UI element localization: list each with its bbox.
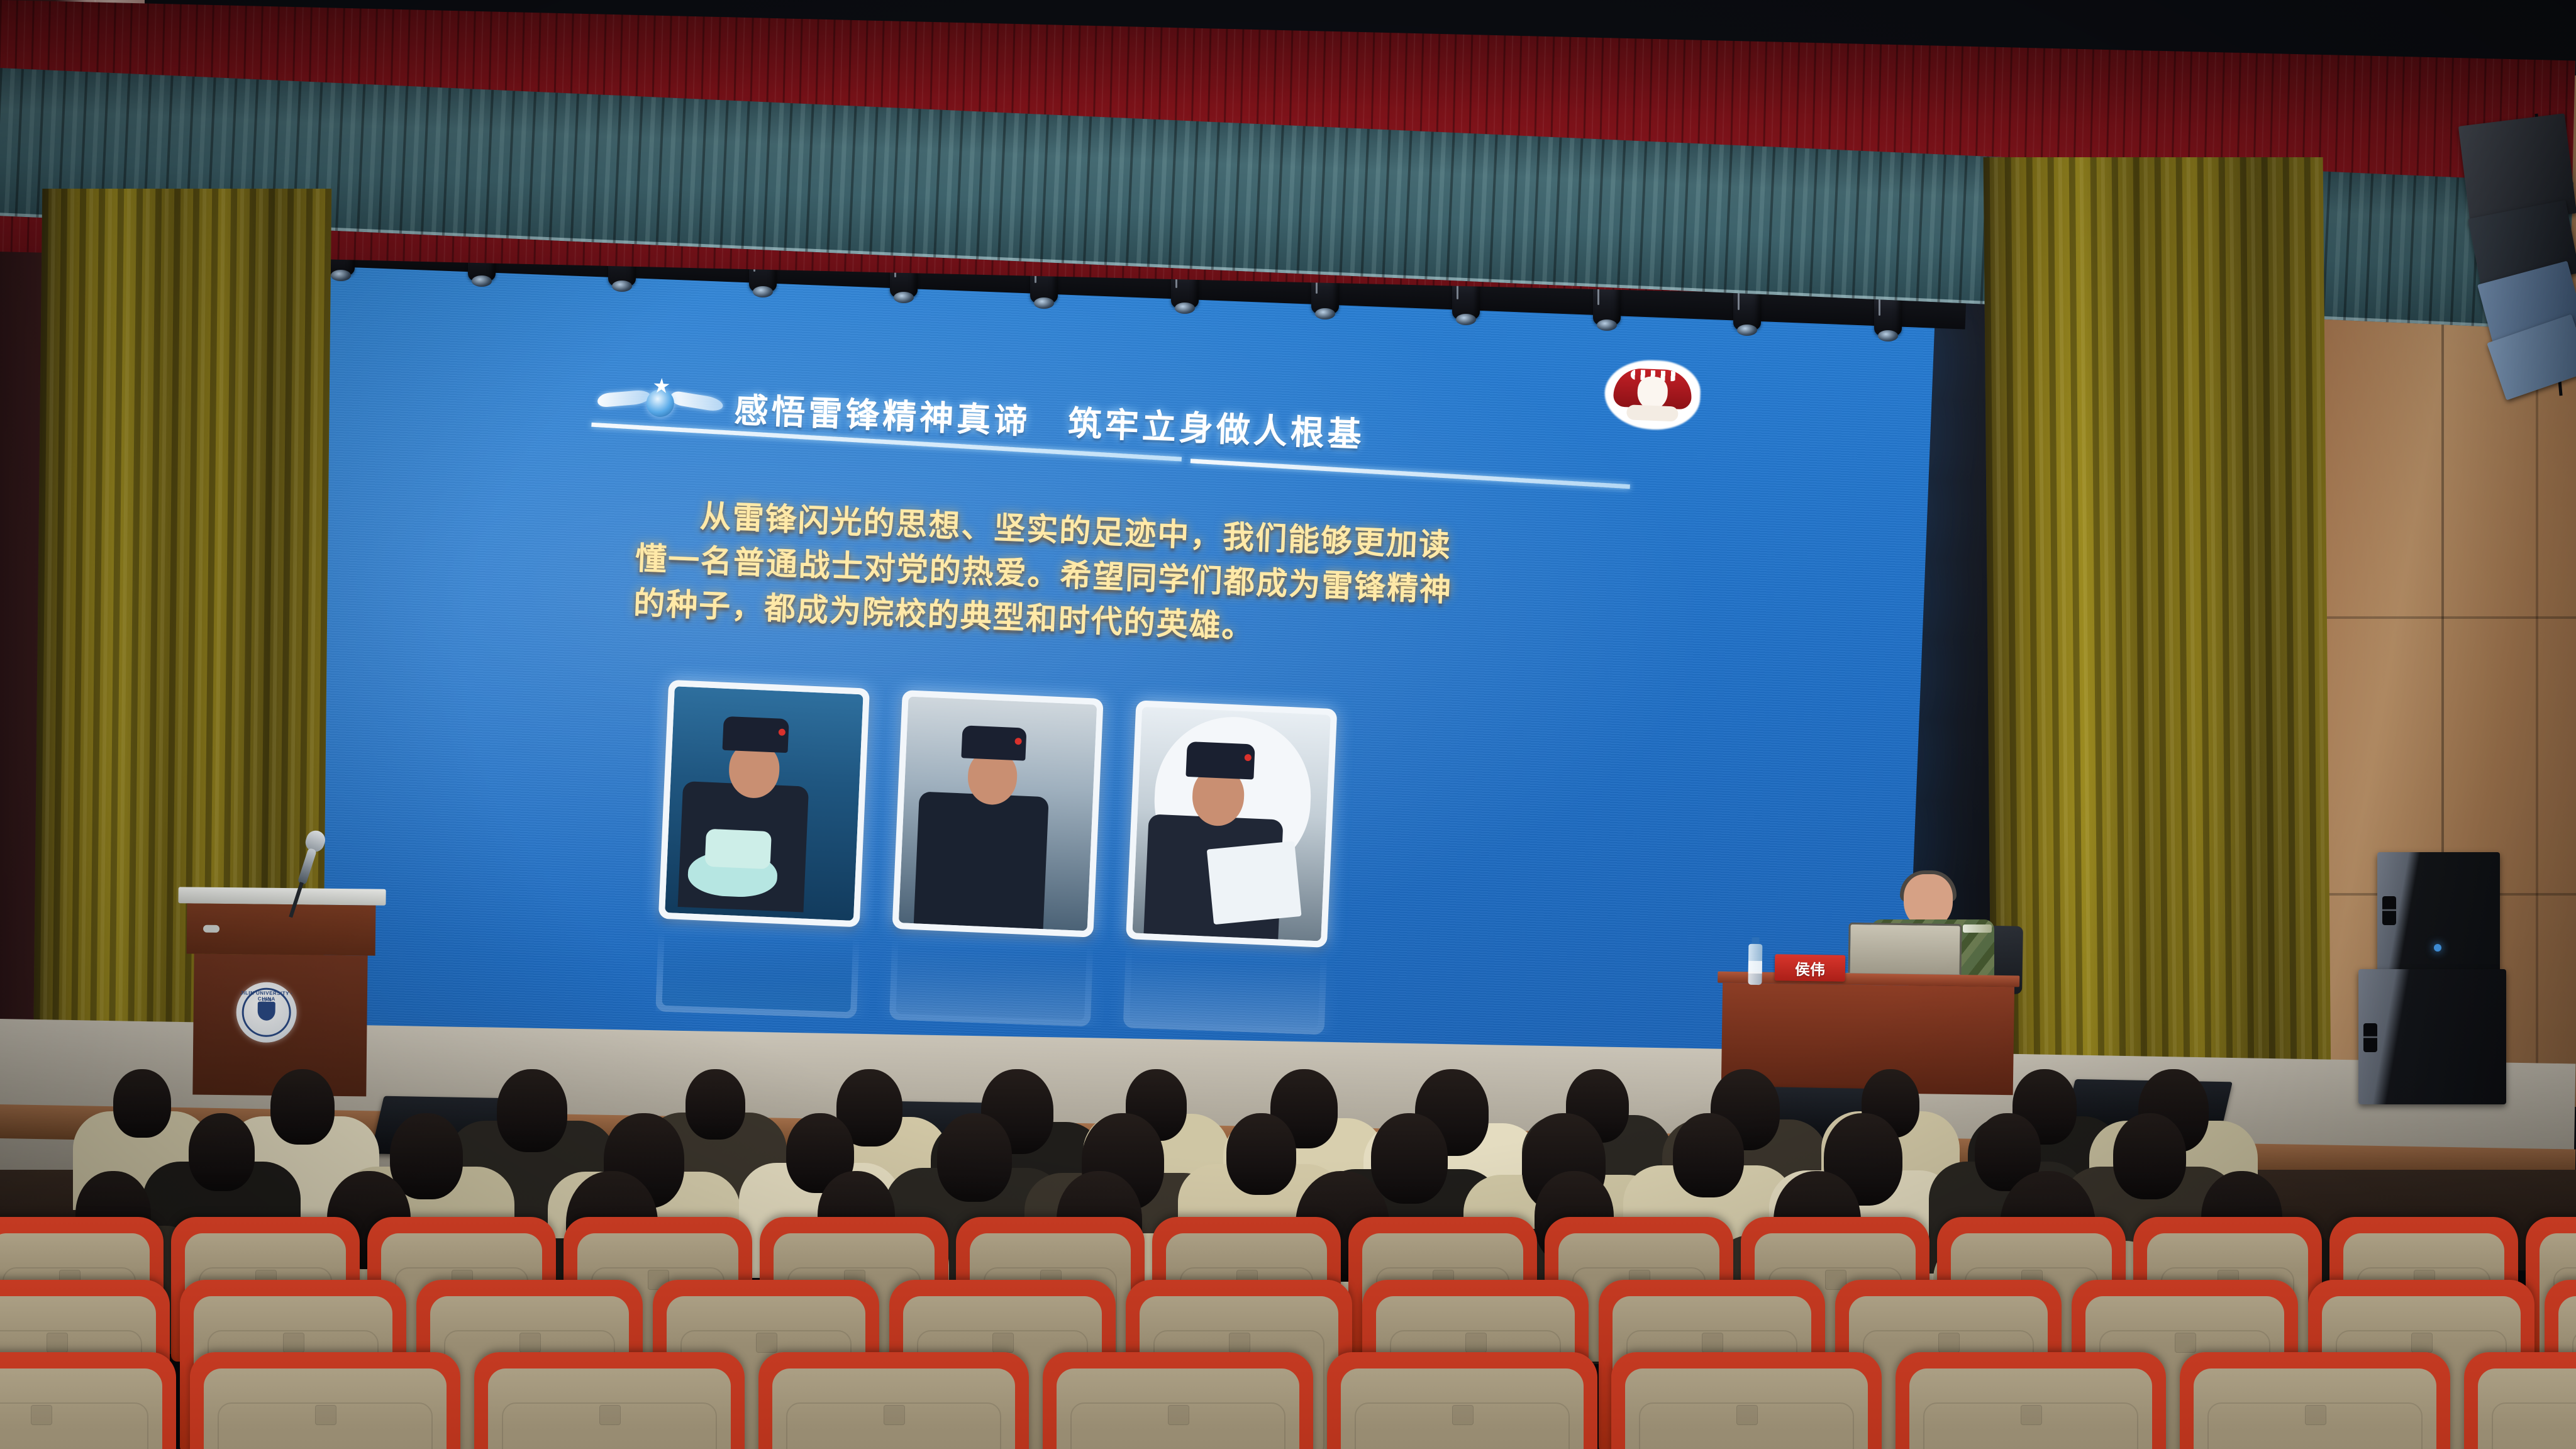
valance-pleat-highlight <box>517 91 528 239</box>
seat-cushion <box>1341 1368 1584 1449</box>
seat-number-plate <box>315 1405 336 1425</box>
valance-pleat-highlight <box>346 84 357 231</box>
valance-pleat <box>997 113 1006 260</box>
valance-pleat-highlight <box>1969 156 1980 304</box>
valance-pleat <box>1296 126 1305 274</box>
lei-feng-photo-smiling <box>892 690 1103 938</box>
valance-pleat-highlight <box>858 106 869 254</box>
valance-pleat-highlight <box>1158 119 1169 267</box>
valance-pleat-highlight <box>1222 123 1233 270</box>
valance-pleat-highlight <box>1072 116 1083 264</box>
seat-number-plate <box>31 1405 52 1425</box>
water-bottle[interactable] <box>1746 937 1763 985</box>
valance-pleat-highlight <box>923 109 933 257</box>
valance-pleat <box>549 92 558 240</box>
valance-pleat-highlight <box>474 89 485 237</box>
speaker-handle-bottom <box>2363 1023 2377 1052</box>
valance-pleat-highlight <box>1136 119 1147 267</box>
seat-cushion <box>772 1368 1015 1449</box>
audience-member-head <box>686 1069 745 1140</box>
valance-pleat <box>1233 123 1241 271</box>
valance-pleat <box>1681 143 1690 291</box>
valance-pleat-highlight <box>1265 125 1275 272</box>
valance-pleat <box>2386 174 2395 322</box>
audience-seat[interactable] <box>2464 1352 2576 1449</box>
winged-star-emblem-icon <box>596 374 724 428</box>
valance-pleat <box>1147 119 1156 267</box>
stacked-pa-speakers <box>2358 852 2516 1104</box>
audience-member-head <box>189 1113 255 1191</box>
podium-top-surface <box>178 887 386 905</box>
valance-pleat <box>1403 131 1412 279</box>
seat-number-plate <box>1938 1333 1960 1353</box>
valance-pleat-highlight <box>410 86 421 234</box>
photo-reflection-bg <box>1130 928 1321 1028</box>
valance-pleat-highlight <box>1286 126 1297 274</box>
valance-pleat <box>335 83 344 231</box>
valance-pleat-highlight <box>367 84 378 232</box>
speaker-handle-top <box>2382 896 2396 925</box>
valance-pleat <box>1852 151 1861 299</box>
pa-speaker-bottom <box>2358 969 2506 1104</box>
valance-pleat <box>1510 135 1519 283</box>
photo-image <box>1132 707 1330 941</box>
valance-pleat-highlight <box>1692 143 1702 291</box>
seat-number-plate <box>1168 1405 1189 1425</box>
emblem-disc <box>646 389 675 418</box>
valance-pleat <box>656 97 665 245</box>
audience-seat[interactable] <box>1043 1352 1313 1449</box>
valance-pleat-highlight <box>1350 128 1360 276</box>
valance-pleat <box>1446 133 1455 280</box>
valance-pleat <box>1553 137 1562 285</box>
valance-pleat <box>698 99 707 247</box>
slide-header-rule-right <box>1191 458 1630 489</box>
speaker-podium: JILIN UNIVERSITY · CHINA 1946 <box>180 887 382 1096</box>
pa-speaker-top <box>2377 852 2500 972</box>
auditorium-scene: 感悟雷锋精神真谛 筑牢立身做人根基 从雷锋闪光的思想、坚实的足迹中，我们能够更加… <box>0 0 2576 1449</box>
nameplate-text: 侯伟 <box>1795 957 1825 979</box>
valance-pleat <box>421 87 430 235</box>
light-lens <box>472 275 492 287</box>
valance-pleat-highlight <box>1201 121 1211 269</box>
valance-pleat-highlight <box>1756 147 1767 294</box>
valance-pleat-highlight <box>752 102 762 250</box>
valance-pleat-highlight <box>1799 148 1809 296</box>
emblem-wing-left <box>597 389 652 408</box>
slide-header: 感悟雷锋精神真谛 筑牢立身做人根基 <box>596 370 1616 480</box>
seat-number-plate <box>2411 1333 2433 1353</box>
seat-cushion <box>1625 1368 1868 1449</box>
valance-pleat <box>1019 114 1028 262</box>
presider-nameplate: 侯伟 <box>1775 954 1846 982</box>
seat-cushion <box>1909 1368 2152 1449</box>
seat-cushion <box>1057 1368 1299 1449</box>
valance-pleat-highlight <box>581 94 592 242</box>
photo-reflection-image <box>1130 928 1321 1028</box>
valance-pleat-highlight <box>2333 172 2343 320</box>
seat-number-plate <box>2021 1405 2042 1425</box>
valance-pleat <box>1040 114 1049 262</box>
valance-pleat-highlight <box>1478 134 1489 282</box>
seat-number-plate <box>1736 1405 1758 1425</box>
valance-pleat-highlight <box>1243 123 1254 271</box>
valance-pleat <box>635 96 643 244</box>
valance-pleat <box>1702 144 1711 292</box>
valance-pleat-highlight <box>1030 114 1040 262</box>
photo-image <box>665 686 863 921</box>
line-array-speaker-cluster <box>2453 75 2576 377</box>
valance-pleat <box>1895 153 1904 301</box>
valance-pleat-highlight <box>1179 121 1190 269</box>
valance-pleat <box>2365 174 2373 321</box>
photo-paper <box>1207 841 1302 924</box>
valance-pleat <box>784 103 792 251</box>
valance-pleat <box>1788 148 1797 296</box>
valance-pleat-highlight <box>624 96 635 244</box>
seat-number-plate <box>1702 1333 1723 1353</box>
lei-feng-portrait-logo-icon <box>1603 358 1701 431</box>
audience-seat[interactable] <box>1896 1352 2166 1449</box>
valance-pleat-highlight <box>645 97 656 245</box>
valance-pleat <box>677 98 686 246</box>
valance-pleat-highlight <box>1906 153 1916 301</box>
valance-pleat-highlight <box>2354 173 2365 321</box>
seat-cushion <box>2194 1368 2436 1449</box>
valance-pleat <box>2407 175 2416 323</box>
photo-reflection-bg <box>662 911 853 1012</box>
valance-pleat-highlight <box>1628 141 1638 289</box>
light-lens <box>1034 297 1054 309</box>
valance-pleat-highlight <box>1307 126 1318 274</box>
light-lens <box>1878 330 1898 341</box>
photo-reflection-image <box>896 919 1087 1020</box>
valance-pleat-highlight <box>1606 140 1617 287</box>
valance-pleat <box>442 88 451 236</box>
seat-number-plate <box>884 1405 905 1425</box>
valance-pleat-highlight <box>2440 177 2450 325</box>
right-stage-curtain <box>1984 157 2331 1082</box>
podium-upper-body <box>187 903 376 955</box>
seat-number-plate <box>1465 1333 1487 1353</box>
valance-pleat-highlight <box>1820 149 1831 297</box>
valance-pleat <box>805 104 814 252</box>
photo-coat <box>914 791 1049 929</box>
audience-member-head <box>1673 1113 1744 1197</box>
seat-cushion <box>2478 1368 2576 1449</box>
microphone-stand <box>289 882 304 918</box>
valance-pleat <box>464 89 472 236</box>
officer-epaulet-right <box>1963 924 1992 933</box>
valance-pleat <box>1660 142 1668 290</box>
logo-collar <box>1626 404 1679 421</box>
valance-pleat <box>1254 124 1263 272</box>
valance-pleat <box>1745 146 1754 294</box>
valance-pleat <box>2343 172 2352 320</box>
audience-seat[interactable] <box>0 1352 176 1449</box>
seat-number-plate <box>283 1333 304 1353</box>
valance-pleat <box>1126 118 1135 266</box>
audience-seat[interactable] <box>1327 1352 1597 1449</box>
valance-pleat-highlight <box>560 93 570 241</box>
valance-pleat <box>1190 121 1199 269</box>
valance-pleat-highlight <box>773 103 784 250</box>
valance-pleat <box>1339 128 1348 275</box>
led-presentation-screen: 感悟雷锋精神真谛 筑牢立身做人根基 从雷锋闪光的思想、坚实的足迹中，我们能够更加… <box>264 233 1936 1108</box>
audience-seat[interactable] <box>474 1352 745 1449</box>
valance-pleat <box>528 92 536 240</box>
valance-pleat <box>357 84 365 232</box>
valance-pleat <box>1104 118 1113 265</box>
audience-member-head <box>937 1113 1012 1202</box>
valance-pleat-highlight <box>1499 135 1510 283</box>
valance-pleat-highlight <box>1735 145 1745 293</box>
valance-pleat-highlight <box>538 92 549 240</box>
valance-pleat <box>613 96 622 243</box>
valance-pleat-highlight <box>944 110 955 258</box>
lei-feng-photo-portrait <box>1126 700 1337 948</box>
light-lens <box>1597 319 1617 331</box>
jilin-university-seal-icon: JILIN UNIVERSITY · CHINA 1946 <box>236 982 297 1043</box>
seat-number-plate <box>1452 1405 1474 1425</box>
valance-pleat <box>1211 122 1220 270</box>
slide-body-paragraph: 从雷锋闪光的思想、坚实的足迹中，我们能够更加读懂一名普通战士对党的热爱。希望同学… <box>633 499 1453 645</box>
valance-pleat <box>0 68 3 216</box>
valance-pleat <box>1424 131 1433 279</box>
valance-pleat-highlight <box>666 98 677 246</box>
valance-pleat <box>1809 149 1818 297</box>
valance-pleat-highlight <box>1884 152 1895 300</box>
emblem-wing-right <box>670 390 723 413</box>
valance-pleat <box>1083 116 1092 264</box>
valance-pleat <box>762 102 771 250</box>
valance-pleat-highlight <box>496 91 506 238</box>
valance-pleat-highlight <box>1392 130 1403 278</box>
valance-pleat-highlight <box>794 104 805 252</box>
valance-pleat-highlight <box>2375 174 2386 322</box>
audience-seat[interactable] <box>190 1352 460 1449</box>
valance-pleat-highlight <box>1948 155 1958 303</box>
seat-cushion <box>488 1368 731 1449</box>
valance-pleat-highlight <box>2397 175 2407 323</box>
valance-pleat-highlight <box>1008 113 1019 261</box>
valance-pleat-highlight <box>1414 131 1424 279</box>
seat-number-plate <box>599 1405 621 1425</box>
light-lens <box>894 292 914 303</box>
valance-pleat-highlight <box>453 89 464 236</box>
valance-pleat <box>1617 140 1626 288</box>
valance-pleat <box>1916 153 1925 301</box>
valance-pleat-highlight <box>1542 137 1553 285</box>
valance-pleat-highlight <box>687 99 698 247</box>
seat-cushion <box>0 1368 162 1449</box>
valance-pleat <box>1275 125 1284 273</box>
valance-pleat-highlight <box>1670 143 1681 291</box>
valance-pleat-highlight <box>837 106 848 253</box>
valance-pleat <box>1958 155 1967 303</box>
valance-pleat-highlight <box>1115 118 1126 265</box>
seat-number-plate <box>1229 1333 1250 1353</box>
light-lens <box>753 286 773 297</box>
valance-pleat <box>570 94 579 241</box>
valance-pleat-highlight <box>1435 132 1446 280</box>
valance-pleat <box>506 91 515 238</box>
valance-pleat <box>1062 116 1070 264</box>
valance-pleat-highlight <box>1713 145 1724 292</box>
valance-pleat <box>1724 145 1733 293</box>
audience-seat[interactable] <box>1611 1352 1882 1449</box>
seat-number-plate <box>47 1333 68 1353</box>
audience-member-head <box>270 1069 335 1145</box>
valance-pleat <box>1638 141 1647 289</box>
photo-reflection-bg <box>896 919 1087 1020</box>
valance-pleat <box>741 101 750 249</box>
valance-pleat-highlight <box>880 108 891 255</box>
valance-pleat <box>1489 135 1497 282</box>
photo-reflection-image <box>662 911 853 1012</box>
seal-shield-icon <box>258 1002 275 1021</box>
audience-member-head <box>497 1069 567 1152</box>
valance-pleat-highlight <box>1585 139 1596 287</box>
speaker-power-led <box>2434 944 2441 952</box>
valance-pleat-highlight <box>1563 138 1574 286</box>
valance-pleat-highlight <box>431 87 442 235</box>
valance-pleat-highlight <box>965 111 976 259</box>
valance-pleat-highlight <box>1521 136 1531 284</box>
photo-cloth <box>704 829 772 869</box>
slide-photo-row <box>659 680 1529 943</box>
valance-pleat-highlight <box>1863 151 1874 299</box>
valance-pleat-highlight <box>1649 142 1660 289</box>
valance-pleat-highlight <box>1051 115 1062 263</box>
seat-number-plate <box>992 1333 1014 1353</box>
valance-pleat <box>719 100 728 248</box>
audience-seat[interactable] <box>758 1352 1029 1449</box>
valance-pleat <box>869 107 878 255</box>
slide-body-text: 从雷锋闪光的思想、坚实的足迹中，我们能够更加读懂一名普通战士对党的热爱。希望同学… <box>633 492 1474 658</box>
valance-pleat <box>912 109 921 257</box>
photo-cap <box>1185 741 1255 780</box>
valance-pleat-highlight <box>987 112 997 260</box>
valance-pleat-highlight <box>1371 130 1382 277</box>
valance-pleat <box>1169 120 1177 268</box>
valance-pleat <box>891 108 899 256</box>
audience-member-head <box>390 1113 463 1199</box>
valance-pleat-highlight <box>1777 147 1788 295</box>
seat-cushion <box>204 1368 447 1449</box>
audience-member-head <box>1371 1113 1448 1204</box>
valance-pleat <box>1318 127 1326 275</box>
valance-pleat <box>976 112 985 260</box>
light-lens <box>331 270 351 281</box>
valance-pleat <box>848 106 857 254</box>
valance-pleat-highlight <box>1926 154 1937 302</box>
valance-pleat <box>1767 147 1775 295</box>
bottle-label <box>1748 961 1762 974</box>
valance-pleat <box>592 94 601 242</box>
valance-pleat <box>1531 136 1540 284</box>
audience-member-head <box>2113 1113 2186 1199</box>
valance-pleat <box>485 90 494 238</box>
valance-pleat-highlight <box>816 104 826 252</box>
valance-pleat <box>1467 133 1476 281</box>
valance-pleat <box>955 111 963 258</box>
valance-pleat-highlight <box>2418 176 2429 324</box>
seat-number-plate <box>756 1333 777 1353</box>
valance-pleat-highlight <box>1328 128 1339 275</box>
valance-pleat <box>1596 139 1604 287</box>
valance-pleat <box>1831 150 1840 297</box>
valance-pleat-highlight <box>389 86 399 233</box>
valance-pleat-highlight <box>602 95 613 243</box>
valance-pleat-highlight <box>4 69 15 216</box>
valance-pleat <box>1874 152 1882 299</box>
valance-pleat <box>826 105 835 253</box>
valance-pleat <box>1574 138 1583 286</box>
valance-pleat <box>2429 176 2438 324</box>
valance-pleat <box>1937 155 1946 303</box>
light-lens <box>1456 314 1476 325</box>
valance-pleat-highlight <box>901 108 912 256</box>
audience-member-head <box>1226 1113 1296 1195</box>
valance-pleat <box>933 110 942 258</box>
valance-pleat-highlight <box>1094 117 1104 265</box>
seat-number-plate <box>2175 1333 2196 1353</box>
valance-pleat-highlight <box>25 69 36 217</box>
seat-number-plate <box>519 1333 541 1353</box>
audience-seat[interactable] <box>2180 1352 2450 1449</box>
slide-header-title: 感悟雷锋精神真谛 筑牢立身做人根基 <box>733 382 1365 457</box>
valance-pleat-highlight <box>709 100 719 248</box>
seat-number-plate <box>2305 1405 2326 1425</box>
photo-image <box>899 697 1097 931</box>
audience-member-head <box>113 1069 171 1138</box>
valance-pleat-highlight <box>730 101 741 248</box>
podium-control-button[interactable] <box>203 925 219 933</box>
valance-pleat-highlight <box>1841 150 1852 298</box>
lei-feng-photo-washing <box>658 680 870 928</box>
text-indent <box>636 525 699 527</box>
valance-pleat <box>1360 129 1369 277</box>
valance-pleat <box>399 86 408 234</box>
valance-pleat <box>1382 130 1391 277</box>
valance-pleat <box>378 85 387 233</box>
valance-pleat <box>15 69 24 217</box>
laptop-lid <box>1848 923 1962 979</box>
valance-pleat-highlight <box>1457 133 1467 281</box>
